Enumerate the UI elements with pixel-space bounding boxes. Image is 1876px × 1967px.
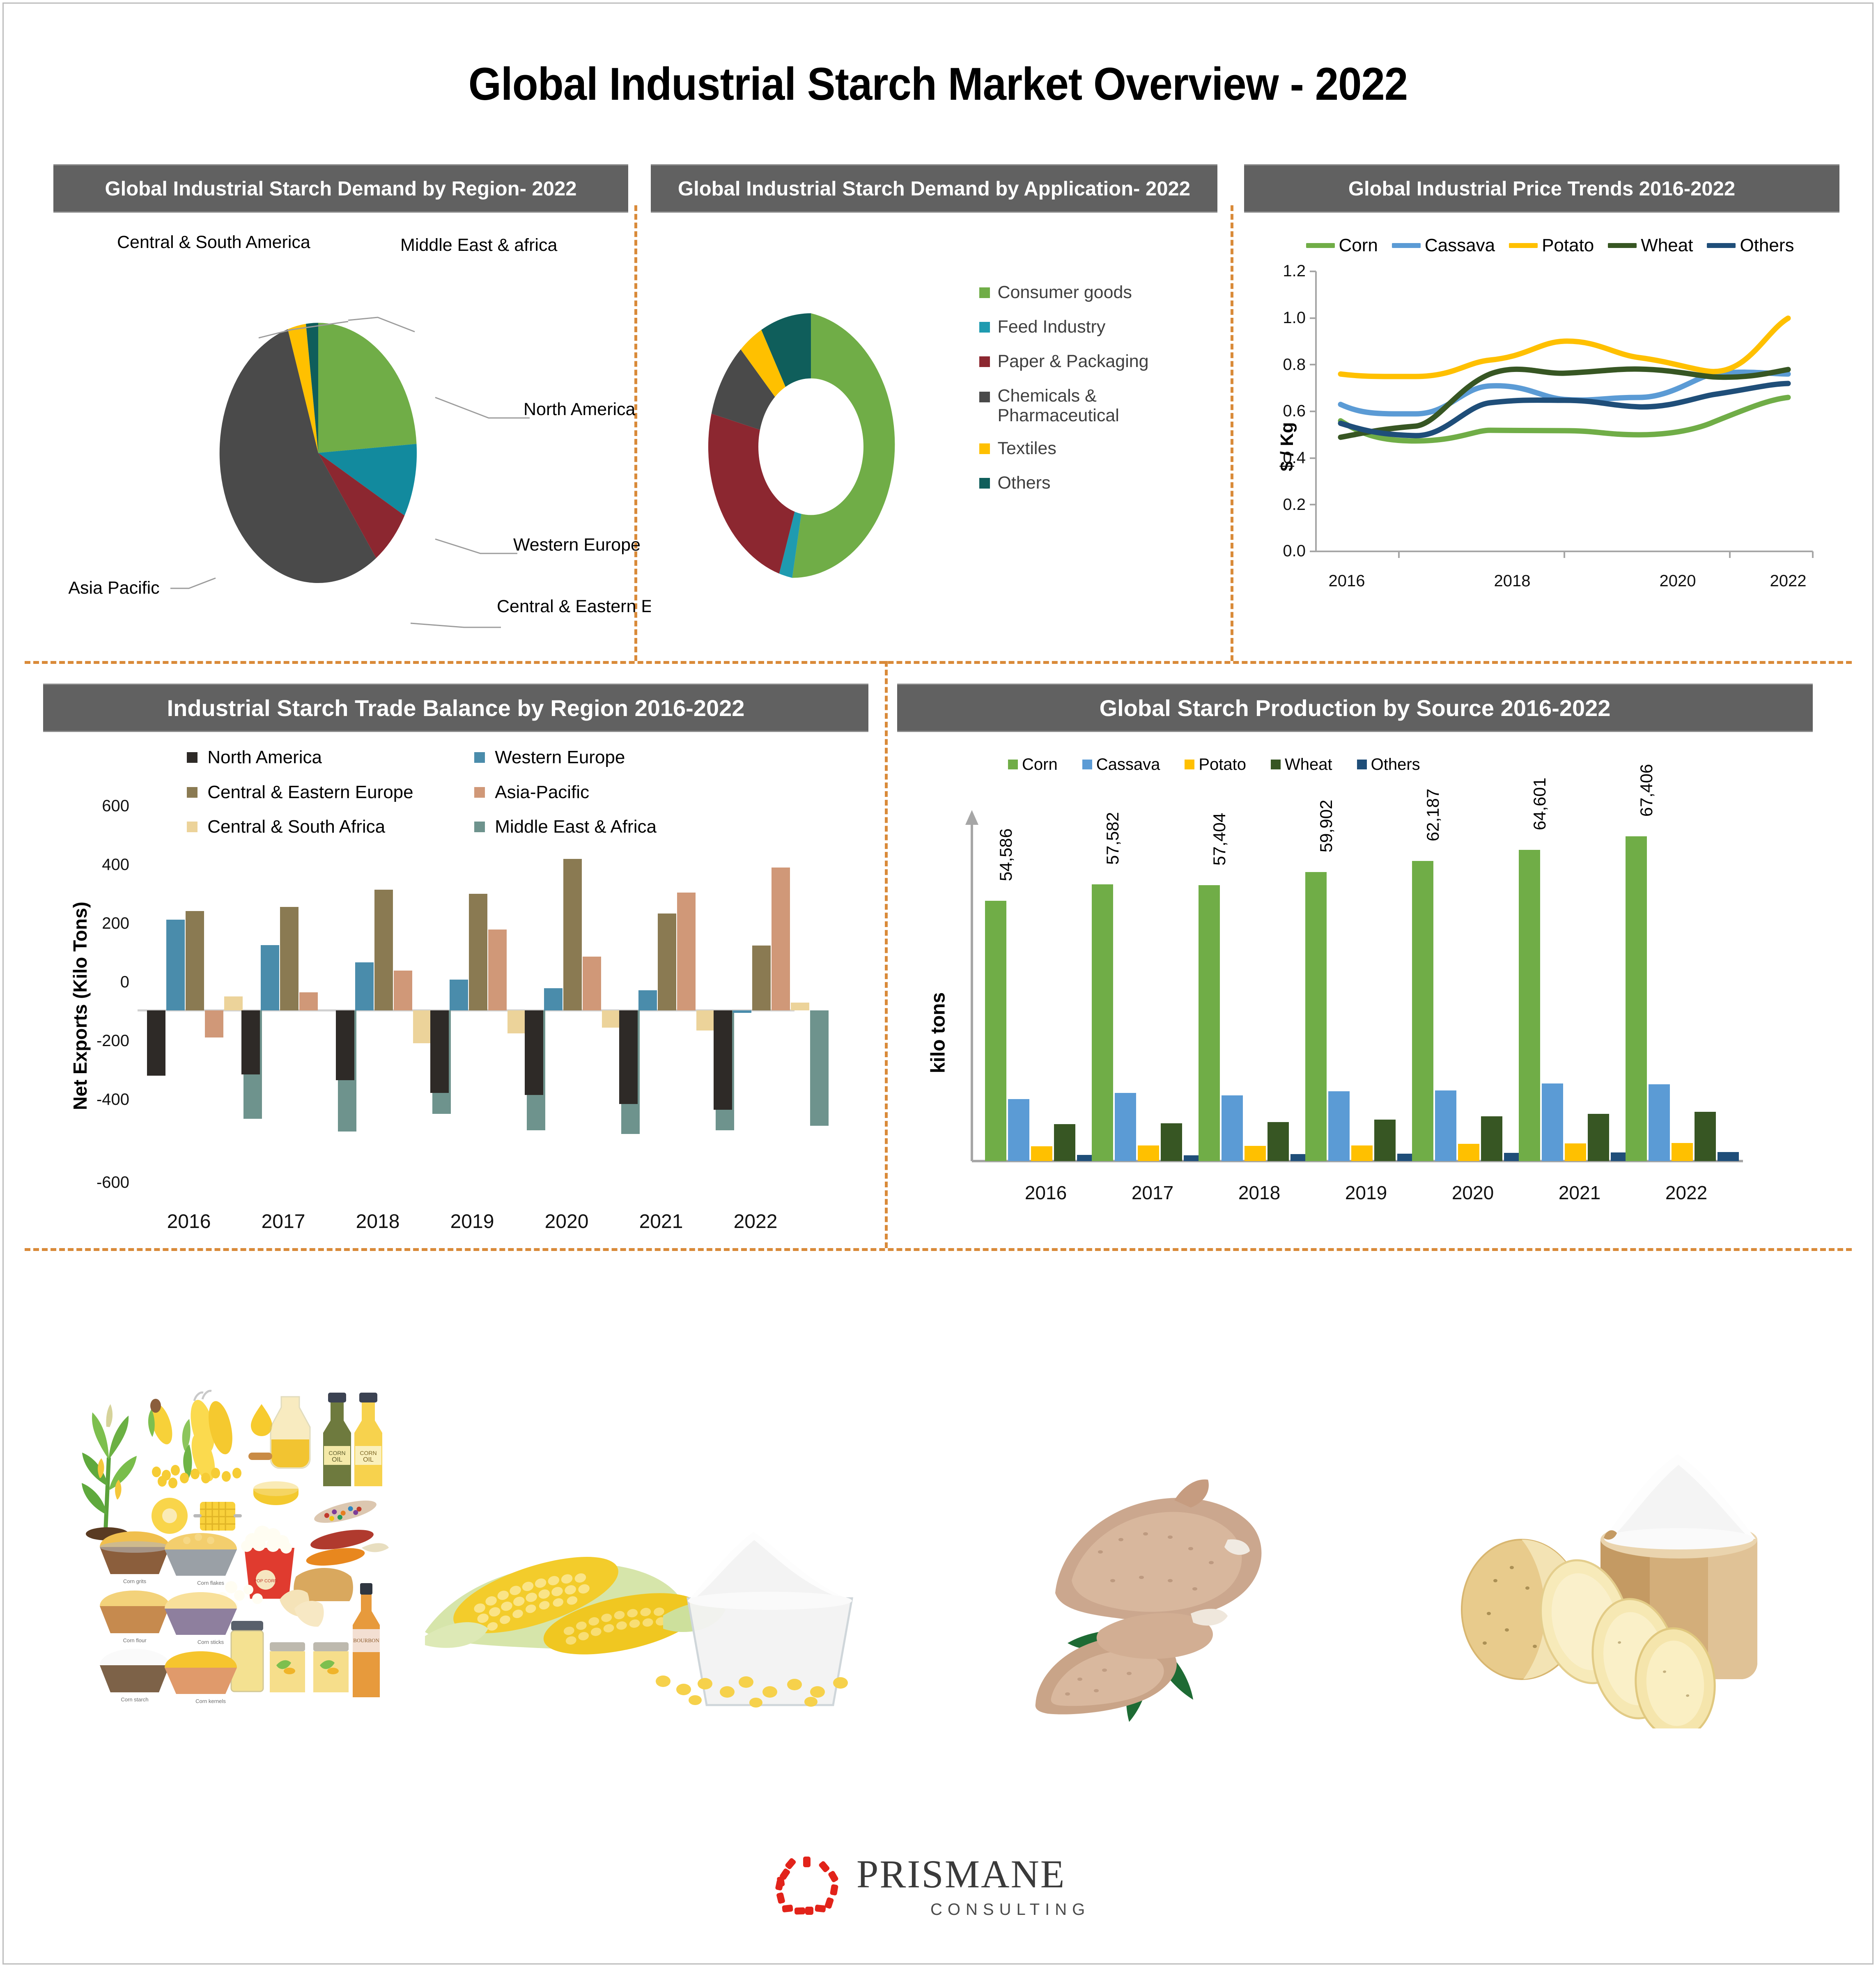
legend-item-central-eastern-europe: Central & Eastern Europe	[187, 781, 474, 802]
legend-label-wheat: Wheat	[1641, 235, 1693, 255]
brand-name: PRISMANE	[856, 1855, 1090, 1894]
legend-label-central-south-africa: Central & South Africa	[207, 817, 385, 837]
photo-corn-cobs-with-starch-glass	[400, 1460, 901, 1710]
svg-text:OIL: OIL	[363, 1456, 374, 1463]
legend-item-wheat: Wheat	[1608, 235, 1693, 256]
legend-item-textiles: Textiles	[979, 438, 1209, 473]
legend-label-potato: Potato	[1542, 235, 1594, 255]
svg-text:CORN: CORN	[328, 1450, 345, 1456]
legend-swatch-western-europe	[474, 752, 485, 763]
legend-swatch-potato	[1185, 760, 1194, 769]
svg-text:Corn sticks: Corn sticks	[197, 1639, 224, 1645]
legend-swatch-others	[979, 478, 990, 489]
production-total-label-2022: 67,406	[1637, 725, 1656, 856]
panel-production-by-source: Global Starch Production by Source 2016-…	[897, 684, 1813, 1242]
svg-text:Corn grits: Corn grits	[123, 1578, 147, 1584]
trade-y-tick-200: 200	[68, 914, 129, 933]
demand-by-application-donut-chart: 53% Consumer goods Feed Industry Paper &…	[651, 213, 1217, 648]
legend-item-paper-packaging: Paper & Packaging	[979, 351, 1209, 386]
legend-label-others: Others	[1740, 235, 1794, 255]
legend-label-others: Others	[997, 473, 1050, 493]
legend-label-feed-industry: Feed Industry	[997, 317, 1105, 337]
svg-text:OIL: OIL	[332, 1456, 342, 1463]
legend-swatch-central-south-africa	[187, 822, 197, 832]
legend-swatch-chemicals-pharmaceutical	[979, 392, 990, 402]
trade-balance-legend: North America Western Europe Central & E…	[187, 746, 762, 837]
price-y-tick-2: 0.4	[1267, 449, 1306, 467]
legend-item-north-america: North America	[187, 746, 474, 768]
production-x-tick-2021: 2021	[1543, 1182, 1617, 1204]
page-title: Global Industrial Starch Market Overview…	[75, 57, 1801, 110]
panel-trade-balance-title: Industrial Starch Trade Balance by Regio…	[43, 684, 868, 732]
trade-y-tick-0: 0	[68, 973, 129, 992]
donut-svg: 53%	[651, 250, 963, 660]
pie-label-central-eastern-europe: Central & Eastern Europe	[497, 597, 591, 616]
divider-vertical-lower	[885, 661, 888, 1248]
svg-text:CORN: CORN	[360, 1450, 377, 1456]
legend-swatch-central-eastern-europe	[187, 787, 197, 798]
price-trends-line-chart: Corn Cassava Potato Wheat Others	[1244, 213, 1839, 648]
panel-demand-by-region: Global Industrial Starch Demand by Regio…	[53, 164, 628, 653]
legend-swatch-potato	[1509, 243, 1538, 248]
svg-text:BOURBON: BOURBON	[353, 1637, 379, 1643]
legend-swatch-corn	[1306, 243, 1335, 248]
legend-item-asia-pacific: Asia-Pacific	[474, 781, 762, 802]
production-x-tick-2020: 2020	[1436, 1182, 1510, 1204]
legend-swatch-feed-industry	[979, 322, 990, 333]
panel-trade-balance: Industrial Starch Trade Balance by Regio…	[43, 684, 868, 1242]
trade-y-tick-m400: -400	[68, 1090, 129, 1109]
legend-label-consumer-goods: Consumer goods	[997, 282, 1132, 302]
production-y-axis-title: kilo tons	[927, 965, 950, 1101]
divider-vertical-left	[634, 205, 637, 661]
legend-label-asia-pacific: Asia-Pacific	[495, 782, 589, 802]
legend-label-western-europe: Western Europe	[495, 747, 625, 767]
svg-text:Corn flakes: Corn flakes	[197, 1580, 224, 1586]
photo-potato-slices-with-starch-bowl	[1404, 1416, 1815, 1728]
production-x-tick-2022: 2022	[1649, 1182, 1723, 1204]
legend-label-north-america: North America	[207, 747, 322, 767]
trade-x-tick-2022: 2022	[723, 1210, 788, 1233]
legend-swatch-corn	[1008, 760, 1018, 769]
legend-swatch-others	[1707, 243, 1736, 248]
pie-label-western-europe: Western Europe	[513, 535, 616, 555]
production-x-tick-2017: 2017	[1116, 1182, 1189, 1204]
trade-x-tick-2020: 2020	[534, 1210, 599, 1233]
production-total-label-2018: 57,404	[1210, 773, 1229, 905]
production-total-label-2019: 59,902	[1316, 760, 1336, 892]
legend-item-potato: Potato	[1185, 755, 1246, 774]
trade-x-tick-2019: 2019	[439, 1210, 505, 1233]
demand-by-region-pie-chart: Central & South America Middle East & af…	[53, 213, 628, 648]
svg-text:Corn flour: Corn flour	[123, 1637, 147, 1643]
legend-item-western-europe: Western Europe	[474, 746, 762, 768]
legend-swatch-wheat	[1271, 760, 1281, 769]
price-trends-legend: Corn Cassava Potato Wheat Others	[1283, 235, 1817, 256]
legend-swatch-cassava	[1392, 243, 1421, 248]
legend-label-central-eastern-europe: Central & Eastern Europe	[207, 782, 413, 802]
price-y-tick-5: 1.0	[1267, 309, 1306, 327]
panel-demand-by-application-title: Global Industrial Starch Demand by Appli…	[651, 164, 1217, 213]
price-y-tick-6: 1.2	[1267, 262, 1306, 280]
donut-value-label: 53%	[891, 473, 929, 494]
brand-logo: PRISMANE CONSULTING	[772, 1848, 1109, 1926]
photo-cassava-roots-with-leaves	[998, 1416, 1408, 1728]
price-x-tick-2020: 2020	[1647, 572, 1708, 590]
divider-horizontal-mid	[25, 661, 1852, 664]
production-x-tick-2016: 2016	[1009, 1182, 1083, 1204]
trade-x-tick-2017: 2017	[250, 1210, 316, 1233]
price-y-tick-0: 0.0	[1267, 542, 1306, 560]
panel-price-trends-title: Global Industrial Price Trends 2016-2022	[1244, 164, 1839, 213]
prismane-mark-icon	[772, 1851, 842, 1923]
production-x-tick-2018: 2018	[1222, 1182, 1296, 1204]
legend-label-chemicals-pharmaceutical: Chemicals & Pharmaceutical	[997, 386, 1170, 425]
legend-swatch-textiles	[979, 443, 990, 454]
production-by-source-bar-chart: Corn Cassava Potato Wheat Others	[897, 732, 1813, 1241]
price-x-tick-2022: 2022	[1757, 572, 1819, 590]
production-legend: Corn Cassava Potato Wheat Others	[1008, 755, 1583, 774]
legend-swatch-paper-packaging	[979, 356, 990, 367]
legend-swatch-consumer-goods	[979, 287, 990, 298]
panel-demand-by-application: Global Industrial Starch Demand by Appli…	[651, 164, 1217, 653]
production-total-label-2021: 64,601	[1530, 738, 1550, 870]
trade-y-tick-600: 600	[68, 797, 129, 815]
legend-label-paper-packaging: Paper & Packaging	[997, 351, 1148, 371]
trade-x-tick-2016: 2016	[156, 1210, 222, 1233]
brand-tagline: CONSULTING	[930, 1900, 1090, 1919]
trade-x-tick-2018: 2018	[345, 1210, 411, 1233]
legend-item-others: Others	[1707, 235, 1794, 256]
production-total-label-2020: 62,187	[1423, 749, 1443, 881]
trade-y-tick-400: 400	[68, 856, 129, 874]
price-y-tick-1: 0.2	[1267, 496, 1306, 514]
trade-balance-bar-chart: North America Western Europe Central & E…	[43, 732, 868, 1241]
legend-label-cassava: Cassava	[1425, 235, 1495, 255]
legend-label-middle-east-africa: Middle East & Africa	[495, 817, 657, 837]
trade-y-tick-m600: -600	[68, 1173, 129, 1192]
legend-item-others: Others	[1357, 755, 1420, 774]
price-trends-svg	[1244, 264, 1839, 617]
pie-label-central-south-america: Central & South America	[117, 232, 220, 252]
pie-label-asia-pacific: Asia Pacific	[60, 578, 168, 598]
legend-item-others: Others	[979, 473, 1209, 507]
legend-label-cassava: Cassava	[1096, 755, 1160, 773]
price-y-tick-3: 0.6	[1267, 402, 1306, 420]
legend-swatch-wheat	[1608, 243, 1637, 248]
legend-label-others: Others	[1371, 755, 1420, 773]
legend-label-corn: Corn	[1339, 235, 1378, 255]
trade-y-tick-m200: -200	[68, 1032, 129, 1050]
legend-item-consumer-goods: Consumer goods	[979, 282, 1209, 317]
legend-item-chemicals-pharmaceutical: Chemicals & Pharmaceutical	[979, 386, 1209, 438]
donut-legend: Consumer goods Feed Industry Paper & Pac…	[979, 282, 1209, 507]
production-x-tick-2019: 2019	[1329, 1182, 1403, 1204]
production-total-label-2016: 54,586	[996, 789, 1016, 920]
legend-label-textiles: Textiles	[997, 438, 1056, 458]
legend-item-corn: Corn	[1306, 235, 1378, 256]
legend-item-feed-industry: Feed Industry	[979, 317, 1209, 351]
svg-text:POP CORN: POP CORN	[254, 1579, 278, 1584]
legend-item-cassava: Cassava	[1392, 235, 1495, 256]
panel-price-trends: Global Industrial Price Trends 2016-2022…	[1244, 164, 1839, 653]
price-x-tick-2018: 2018	[1481, 572, 1543, 590]
legend-item-cassava: Cassava	[1082, 755, 1160, 774]
production-total-label-2017: 57,582	[1103, 773, 1123, 904]
legend-swatch-north-america	[187, 752, 197, 763]
divider-horizontal-low	[25, 1248, 1852, 1251]
pie-label-middle-east-africa: Middle East & africa	[400, 235, 513, 255]
panel-production-by-source-title: Global Starch Production by Source 2016-…	[897, 684, 1813, 732]
production-svg	[897, 732, 1813, 1241]
legend-swatch-asia-pacific	[474, 787, 485, 798]
photo-corn-products-illustration: CORN OIL CORN OIL	[68, 1355, 392, 1708]
legend-swatch-middle-east-africa	[474, 822, 485, 832]
legend-item-potato: Potato	[1509, 235, 1594, 256]
price-x-tick-2016: 2016	[1316, 572, 1378, 590]
svg-text:Corn kernels: Corn kernels	[195, 1698, 226, 1704]
divider-vertical-right	[1231, 205, 1233, 661]
legend-label-potato: Potato	[1199, 755, 1246, 773]
legend-swatch-cassava	[1082, 760, 1092, 769]
svg-text:Corn starch: Corn starch	[121, 1696, 148, 1703]
legend-item-central-south-africa: Central & South Africa	[187, 816, 474, 837]
pie-label-north-america: North America	[524, 399, 618, 419]
legend-label-corn: Corn	[1022, 755, 1058, 773]
legend-swatch-others	[1357, 760, 1367, 769]
panel-demand-by-region-title: Global Industrial Starch Demand by Regio…	[53, 164, 628, 213]
legend-item-corn: Corn	[1008, 755, 1058, 774]
legend-item-middle-east-africa: Middle East & Africa	[474, 816, 762, 837]
price-y-tick-4: 0.8	[1267, 356, 1306, 374]
trade-x-tick-2021: 2021	[628, 1210, 694, 1233]
